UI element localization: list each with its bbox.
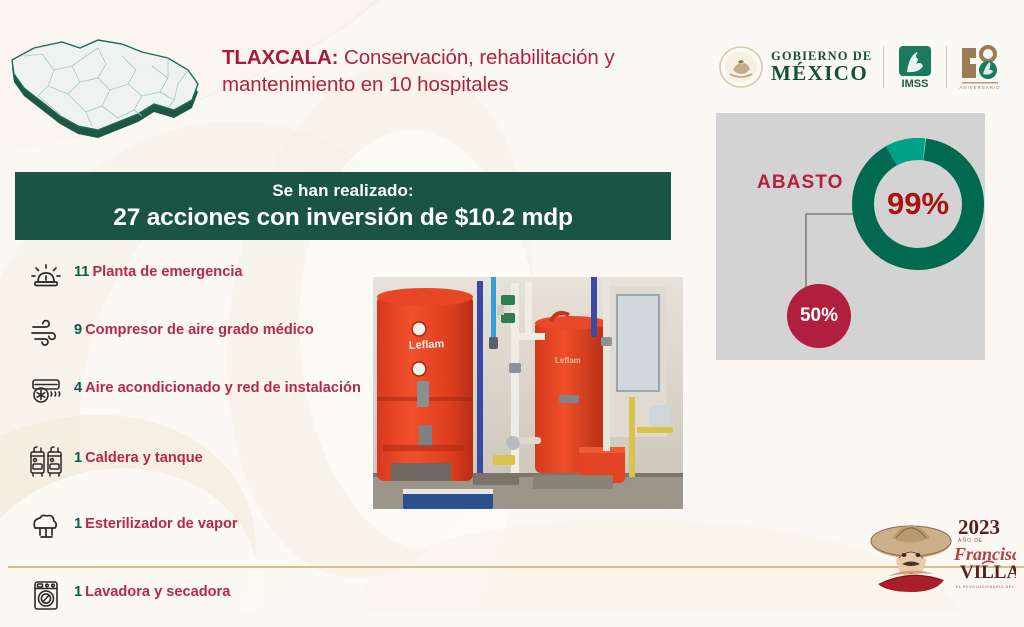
- list-item-text: 1Esterilizador de vapor: [74, 504, 238, 533]
- list-item-label: Aire acondicionado y red de instalación: [85, 380, 361, 396]
- boiler-room-photo: Leflam Leflam: [373, 277, 683, 509]
- donut-center-value: 99%: [849, 135, 987, 273]
- svg-text:VILLA: VILLA: [960, 562, 1016, 583]
- list-item-text: 4Aire acondicionado y red de instalación: [74, 368, 361, 397]
- list-item: 9Compresor de aire grado médico: [18, 310, 368, 364]
- mexico-eagle-seal-icon: [718, 44, 764, 90]
- list-item-text: 1Caldera y tanque: [74, 438, 203, 467]
- banner-line-2: 27 acciones con inversión de $10.2 mdp: [113, 204, 572, 232]
- air-flow-icon: [18, 310, 74, 356]
- abasto-donut-chart: 99%: [849, 135, 987, 273]
- status-badge: 50%: [787, 284, 851, 348]
- state-name: TLAXCALA:: [222, 46, 338, 69]
- list-item-count: 11: [74, 264, 89, 280]
- imss-80-anniversary-icon: ANIVERSARIO: [958, 44, 1004, 90]
- government-logos: GOBIERNO DE MÉXICO IMSS ANIVERSARIO: [718, 36, 1010, 98]
- emergency-beacon-icon: [18, 252, 74, 298]
- list-item-label: Lavadora y secadora: [85, 584, 230, 600]
- gobierno-de-mexico-wordmark: GOBIERNO DE MÉXICO: [771, 50, 872, 85]
- list-item-count: 9: [74, 322, 82, 338]
- svg-text:Leflam: Leflam: [555, 356, 581, 365]
- svg-text:EL REVOLUCIONARIO DEL PUEBLO: EL REVOLUCIONARIO DEL PUEBLO: [956, 585, 1016, 589]
- abasto-label: ABASTO: [757, 172, 843, 194]
- list-item-count: 1: [74, 516, 82, 532]
- gobierno-line-2: MÉXICO: [771, 63, 872, 84]
- svg-text:AÑO DE: AÑO DE: [958, 537, 983, 544]
- list-item-label: Compresor de aire grado médico: [85, 322, 314, 338]
- list-item: 1Lavadora y secadora: [18, 572, 368, 626]
- boiler-tanks-icon: [18, 438, 74, 484]
- imss-logo-icon: IMSS: [895, 44, 935, 90]
- list-item-text: 11Planta de emergencia: [74, 252, 243, 281]
- svg-text:2023: 2023: [958, 515, 1000, 539]
- list-item-count: 4: [74, 380, 82, 396]
- logo-divider-1: [883, 46, 884, 88]
- francisco-villa-2023-logo: 2023 AÑO DE Francisco VILLA EL REVOLUCIO…: [866, 508, 1016, 600]
- tlaxcala-state-map: [2, 26, 207, 166]
- svg-text:Leflam: Leflam: [409, 338, 445, 352]
- list-item-count: 1: [74, 584, 82, 600]
- steam-sterilizer-icon: [18, 504, 74, 550]
- svg-text:Francisco: Francisco: [953, 544, 1016, 564]
- list-item: 4Aire acondicionado y red de instalación: [18, 368, 368, 422]
- list-item: 11Planta de emergencia: [18, 252, 368, 306]
- svg-text:IMSS: IMSS: [902, 78, 929, 90]
- logo-divider-2: [946, 46, 947, 88]
- list-item-text: 1Lavadora y secadora: [74, 572, 230, 601]
- list-item-text: 9Compresor de aire grado médico: [74, 310, 314, 339]
- actions-list: 11Planta de emergencia 9Compresor de air…: [18, 252, 368, 627]
- summary-banner: Se han realizado: 27 acciones con invers…: [15, 172, 671, 240]
- air-conditioner-icon: [18, 368, 74, 414]
- list-item-label: Planta de emergencia: [92, 264, 242, 280]
- washer-dryer-icon: [18, 572, 74, 618]
- page-title: TLAXCALA: Conservación, rehabilitación y…: [222, 44, 692, 98]
- svg-text:ANIVERSARIO: ANIVERSARIO: [960, 85, 1001, 90]
- list-item: 1Caldera y tanque: [18, 438, 368, 492]
- list-item: 1Esterilizador de vapor: [18, 504, 368, 558]
- list-item-count: 1: [74, 450, 82, 466]
- banner-line-1: Se han realizado:: [272, 181, 414, 201]
- list-item-label: Caldera y tanque: [85, 450, 203, 466]
- list-item-label: Esterilizador de vapor: [85, 516, 237, 532]
